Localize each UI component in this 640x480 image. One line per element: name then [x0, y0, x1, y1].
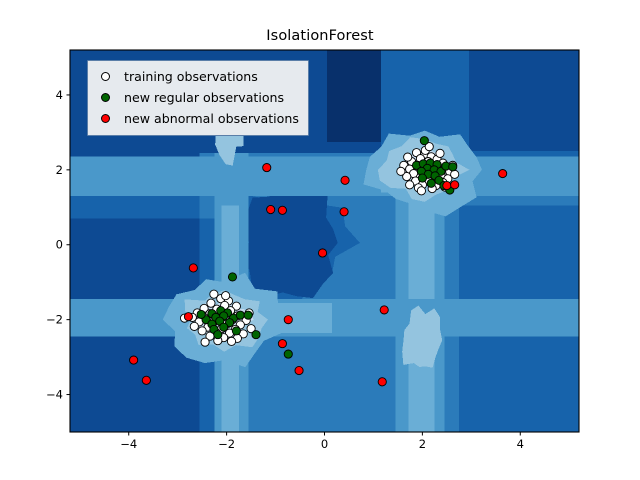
scatter-point [449, 163, 457, 171]
scatter-point [499, 169, 507, 177]
scatter-point [418, 174, 426, 182]
scatter-point [184, 313, 192, 321]
scatter-point [436, 149, 444, 157]
figure-canvas: IsolationForest −4−2024−4−2024 training … [0, 0, 640, 480]
x-tick-label: −4 [120, 437, 137, 451]
scatter-point [451, 170, 459, 178]
y-tick-label: −4 [46, 388, 63, 402]
scatter-point [189, 264, 197, 272]
scatter-point [228, 273, 236, 281]
scatter-point [295, 366, 303, 374]
scatter-point [420, 137, 428, 145]
legend-label: new abnormal observations [114, 111, 299, 126]
scatter-point [278, 340, 286, 348]
y-tick-label: 4 [56, 88, 63, 102]
legend-label: new regular observations [114, 90, 284, 105]
scatter-point [404, 153, 412, 161]
scatter-point [222, 292, 230, 300]
scatter-point [284, 350, 292, 358]
scatter-point [263, 164, 271, 172]
scatter-point [252, 331, 260, 339]
scatter-point [341, 176, 349, 184]
scatter-point [443, 181, 451, 189]
scatter-point [267, 205, 275, 213]
scatter-point [284, 316, 292, 324]
scatter-point [210, 290, 218, 298]
legend-label: training observations [114, 69, 258, 84]
scatter-point [340, 208, 348, 216]
scatter-point [190, 322, 198, 330]
scatter-point [378, 378, 386, 386]
legend-item: new regular observations [96, 87, 299, 108]
scatter-point [406, 181, 414, 189]
scatter-point [318, 249, 326, 257]
y-tick-label: −2 [46, 313, 63, 327]
scatter-point [220, 323, 228, 331]
scatter-point [214, 331, 222, 339]
legend-item: new abnormal observations [96, 108, 299, 129]
scatter-point [380, 306, 388, 314]
scatter-point [197, 310, 205, 318]
scatter-point [244, 311, 252, 319]
legend-item: training observations [96, 66, 299, 87]
legend-box: training observationsnew regular observa… [87, 60, 309, 136]
scatter-point [227, 337, 235, 345]
scatter-point [201, 338, 209, 346]
y-tick-label: 2 [56, 163, 63, 177]
x-tick-label: 2 [419, 437, 426, 451]
x-tick-label: −2 [218, 437, 235, 451]
scatter-point [417, 187, 425, 195]
scatter-point [278, 206, 286, 214]
scatter-point [451, 181, 459, 189]
y-tick-label: 0 [56, 238, 63, 252]
circle-marker-icon [96, 93, 114, 102]
scatter-point [198, 327, 206, 335]
scatter-point [427, 179, 435, 187]
scatter-point [232, 327, 240, 335]
x-tick-label: 4 [517, 437, 524, 451]
scatter-point [236, 311, 244, 319]
circle-marker-icon [96, 114, 114, 123]
scatter-point [142, 376, 150, 384]
x-tick-label: 0 [321, 437, 328, 451]
scatter-point [130, 356, 138, 364]
scatter-point [397, 167, 405, 175]
circle-marker-icon [96, 72, 114, 81]
